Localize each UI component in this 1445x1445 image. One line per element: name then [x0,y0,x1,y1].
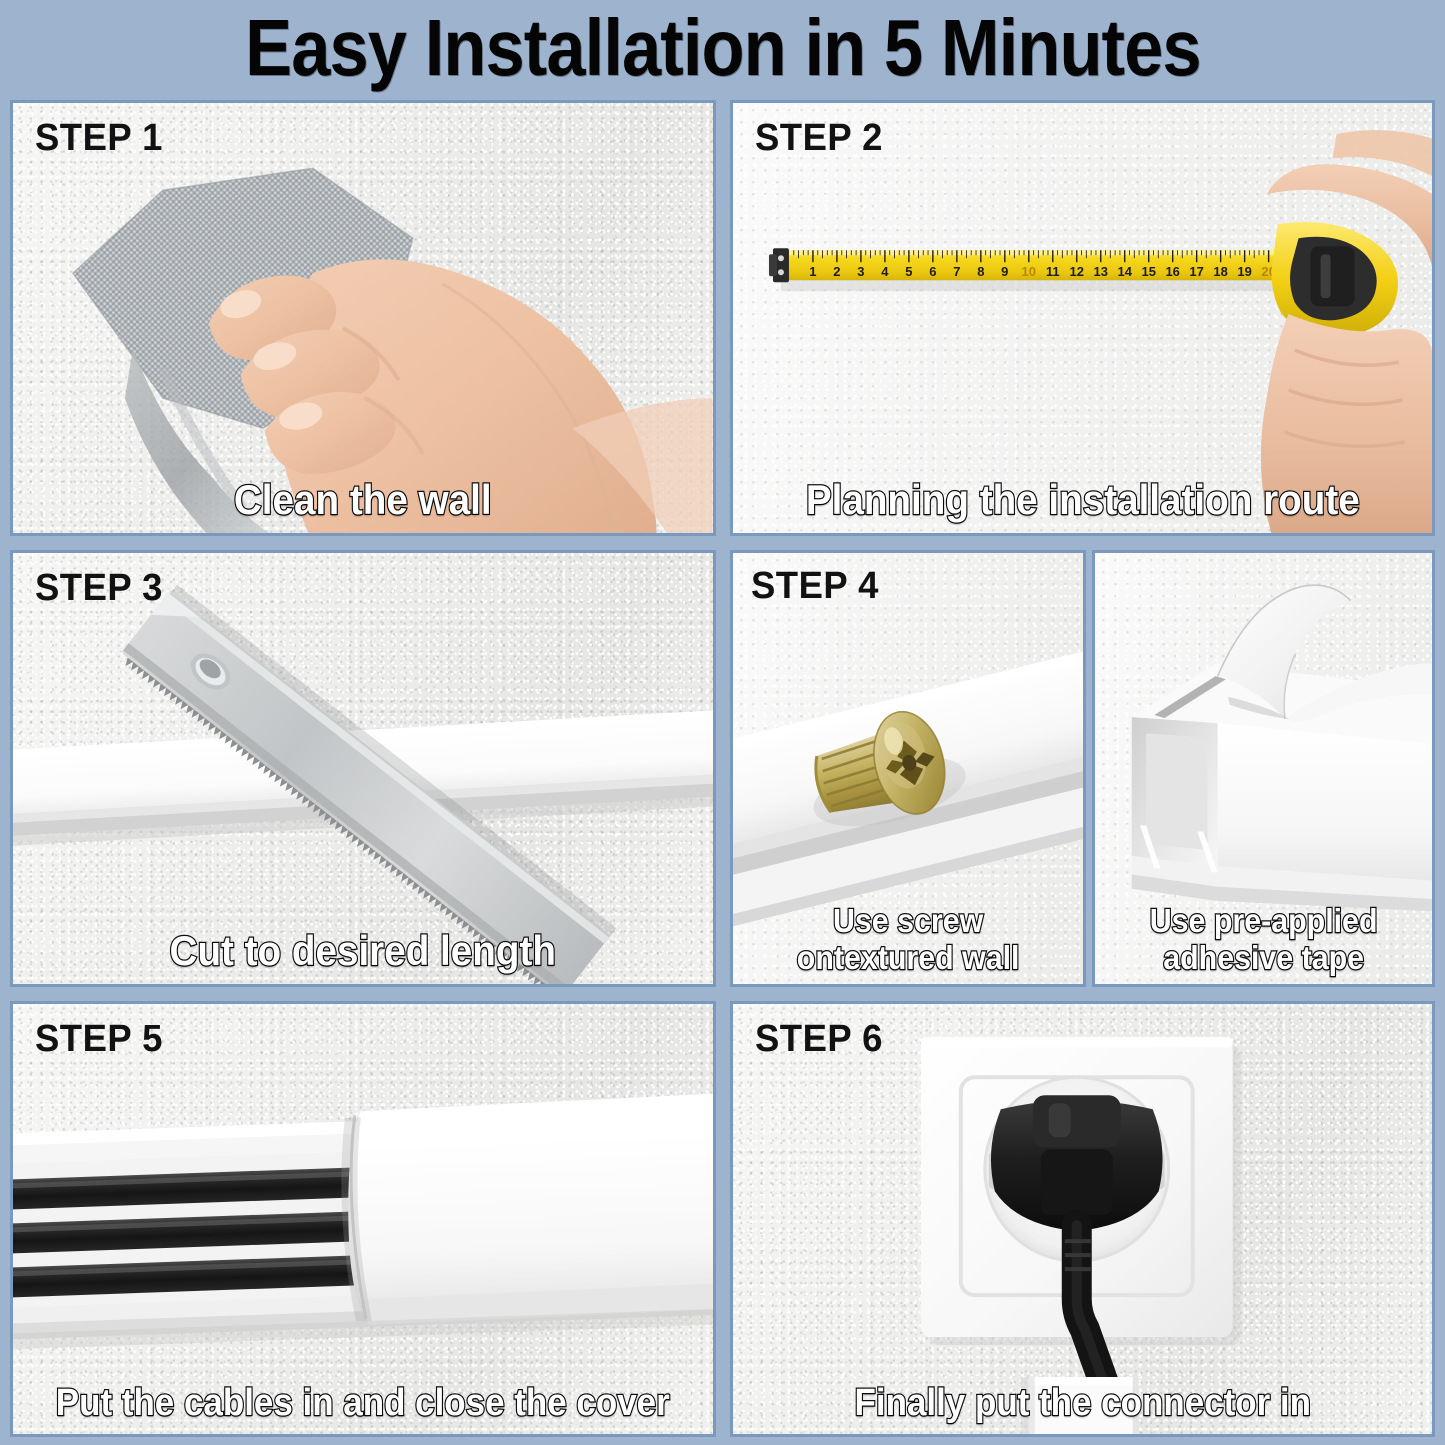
step-panel-1: STEP 1 Clean the wall [10,100,716,536]
cables-in-raceway-illustration [13,1004,713,1434]
step-label: STEP 1 [35,117,163,159]
step-panel-3: STEP 3 Cut to desired length [10,550,716,986]
svg-text:16: 16 [1165,264,1179,279]
step-caption-left: Use screw ontextured wall [747,902,1069,976]
step-panel-2: 1234567891011121314151617181920cm STEP 2… [730,100,1436,536]
caption-line-2: adhesive tape [1163,939,1364,976]
step-panel-6: STEP 6 Finally put the connector in [730,1001,1436,1437]
svg-text:8: 8 [977,264,984,279]
step-label: STEP 2 [755,117,883,159]
svg-text:13: 13 [1093,264,1107,279]
svg-text:12: 12 [1069,264,1083,279]
plug-in-socket-illustration [733,1004,1433,1434]
svg-text:4: 4 [881,264,889,279]
step-label: STEP 6 [755,1018,883,1060]
step-caption: Clean the wall [41,477,685,523]
svg-text:18: 18 [1213,264,1227,279]
title-bar: Easy Installation in 5 Minutes [0,0,1445,96]
step-caption-right: Use pre-applied adhesive tape [1108,902,1418,976]
step-label: STEP 4 [751,565,879,607]
steps-grid: STEP 1 Clean the wall [10,100,1435,1437]
page-title: Easy Installation in 5 Minutes [245,8,1201,88]
svg-text:14: 14 [1117,264,1132,279]
cleaning-wall-illustration [13,103,713,533]
svg-text:3: 3 [857,264,864,279]
svg-text:7: 7 [953,264,960,279]
step-panel-4: STEP 4 Use screw ontextured wall [730,550,1436,986]
svg-text:11: 11 [1045,264,1059,279]
step-label: STEP 3 [35,567,163,609]
svg-text:19: 19 [1237,264,1251,279]
tape-measure-illustration: 1234567891011121314151617181920cm [733,103,1433,533]
infographic-page: Easy Installation in 5 Minutes [0,0,1445,1445]
svg-text:10: 10 [1021,264,1035,279]
step-caption: Put the cables in and close the cover [41,1382,685,1424]
svg-text:2: 2 [833,264,840,279]
step-panel-5: STEP 5 Put the cables in and close the c… [10,1001,716,1437]
step-panel-4-right: Use pre-applied adhesive tape [1092,550,1435,986]
svg-text:5: 5 [905,264,912,279]
caption-line-2: ontextured wall [796,939,1019,976]
step-label: STEP 5 [35,1018,163,1060]
svg-text:1: 1 [809,264,816,279]
step-panel-4-left: STEP 4 Use screw ontextured wall [730,550,1086,986]
svg-text:17: 17 [1189,264,1203,279]
svg-text:15: 15 [1141,264,1155,279]
step-caption: Finally put the connector in [760,1382,1404,1424]
svg-text:9: 9 [1001,264,1008,279]
saw-cutting-raceway-illustration [13,553,713,983]
caption-line-1: Use screw [833,902,983,939]
caption-line-1: Use pre-applied [1149,902,1377,939]
svg-text:6: 6 [929,264,936,279]
step-caption: Planning the installation route [760,477,1404,523]
step-caption: Cut to desired length [41,928,685,974]
